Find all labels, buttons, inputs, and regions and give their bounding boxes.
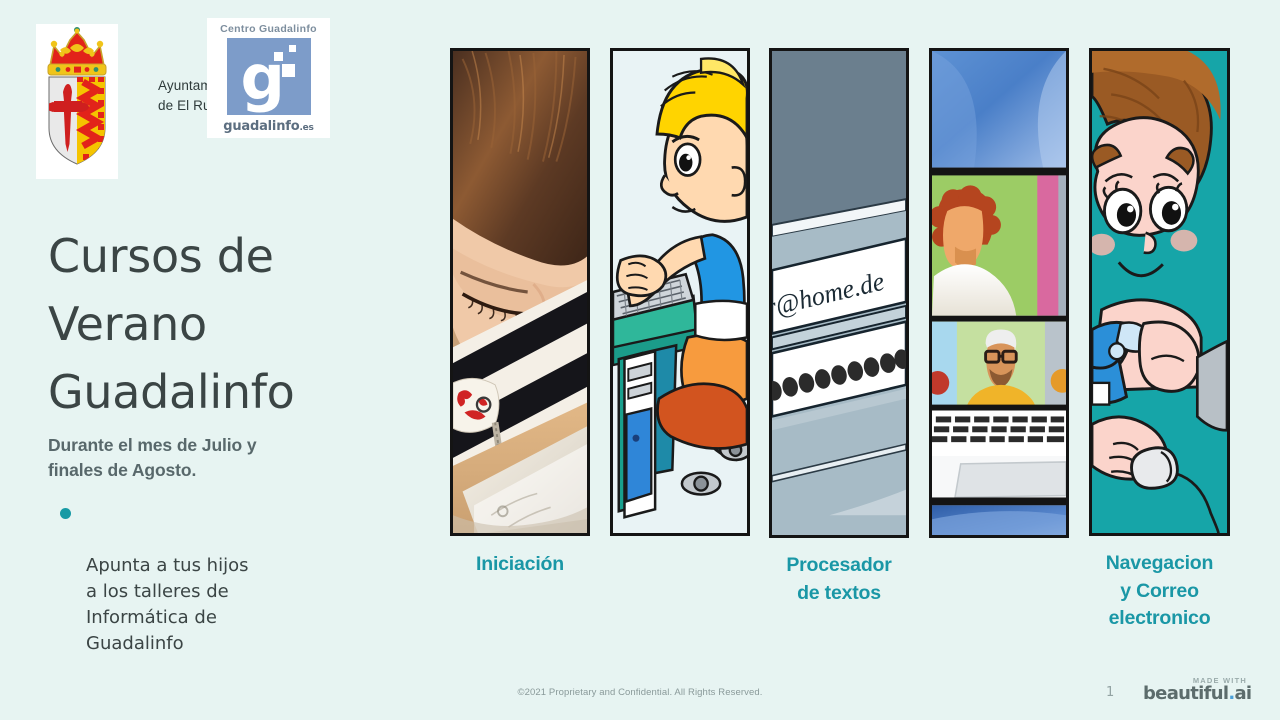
cartoon-boy-at-computer [610,48,750,536]
panel-caption: Procesador de textos [769,552,909,607]
panel-boy-computer[interactable] [610,48,750,551]
cartoon-child-with-mouse [1089,48,1230,536]
panel-caption: Navegacion y Correo electronico [1089,550,1230,633]
video-call-laptop-illustration [929,48,1069,538]
child-with-tablet-photo [450,48,590,536]
brand-wordmark: beautiful.ai [1143,685,1253,704]
panel-video-call[interactable] [929,48,1069,552]
panel-navegacion-correo[interactable]: Navegacion y Correo electronico [1089,48,1230,633]
page-number: 1 [1106,685,1114,700]
brand-wordmark-suffix: ai [1234,683,1251,704]
panel-strip: Iniciación [0,0,1280,720]
panel-iniciacion[interactable]: Iniciación [450,48,590,579]
copyright-notice: ©2021 Proprietary and Confidential. All … [0,687,1280,698]
beautiful-ai-branding[interactable]: MADE WITH beautiful.ai [1143,676,1253,704]
login-form-illustration: r@home.de [769,48,909,538]
panel-caption: Iniciación [450,551,590,579]
panel-procesador-textos[interactable]: r@home.de [769,48,909,607]
brand-wordmark-main: beautiful [1143,683,1228,704]
